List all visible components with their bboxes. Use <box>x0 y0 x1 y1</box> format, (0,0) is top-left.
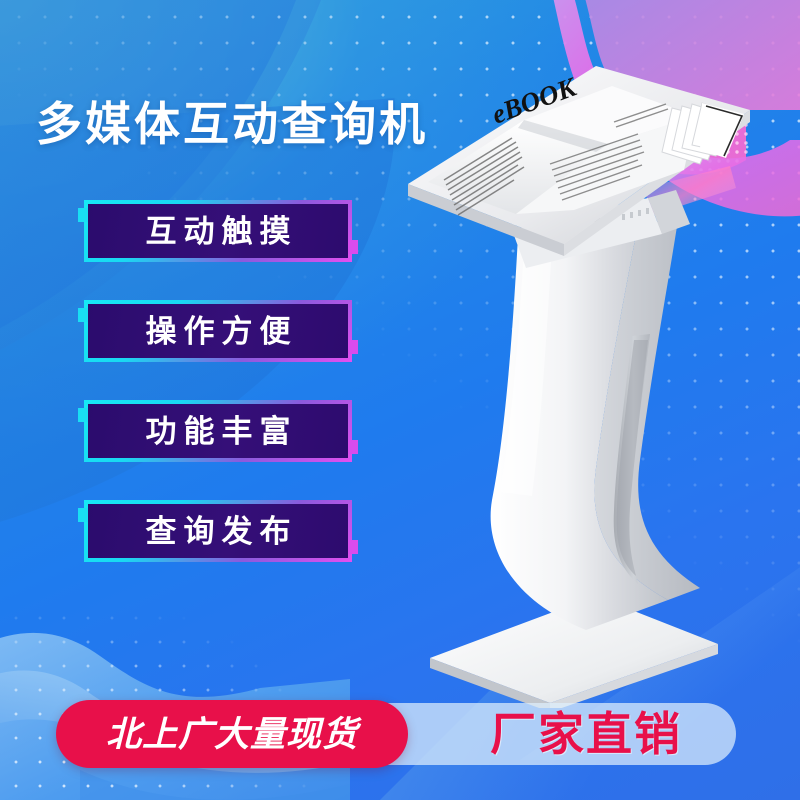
feature-badge-inner: 功能丰富 <box>88 404 348 458</box>
direct-sale-label: 厂家直销 <box>452 702 720 766</box>
feature-badge-label: 功能丰富 <box>139 416 298 447</box>
feature-badge-list: 互动触摸 操作方便 功能丰富 查询发布 <box>84 200 352 600</box>
feature-badge: 查询发布 <box>84 500 352 562</box>
feature-badge-inner: 查询发布 <box>88 504 348 558</box>
touchscreen-kiosk-product: eBOOK <box>400 48 800 708</box>
feature-badge-label: 查询发布 <box>139 516 298 547</box>
stock-badge: 北上广大量现货 <box>56 700 408 768</box>
feature-badge: 功能丰富 <box>84 400 352 462</box>
kiosk-screen: eBOOK <box>408 66 750 256</box>
feature-badge-label: 操作方便 <box>139 316 298 347</box>
stock-badge-label: 北上广大量现货 <box>106 717 358 752</box>
promo-poster: 多媒体互动查询机 <box>0 0 800 800</box>
page-title: 多媒体互动查询机 <box>36 101 428 147</box>
feature-badge: 互动触摸 <box>84 200 352 262</box>
feature-badge: 操作方便 <box>84 300 352 362</box>
feature-badge-inner: 互动触摸 <box>88 204 348 258</box>
kiosk-stand <box>491 220 700 630</box>
feature-badge-inner: 操作方便 <box>88 304 348 358</box>
feature-badge-label: 互动触摸 <box>139 216 298 247</box>
